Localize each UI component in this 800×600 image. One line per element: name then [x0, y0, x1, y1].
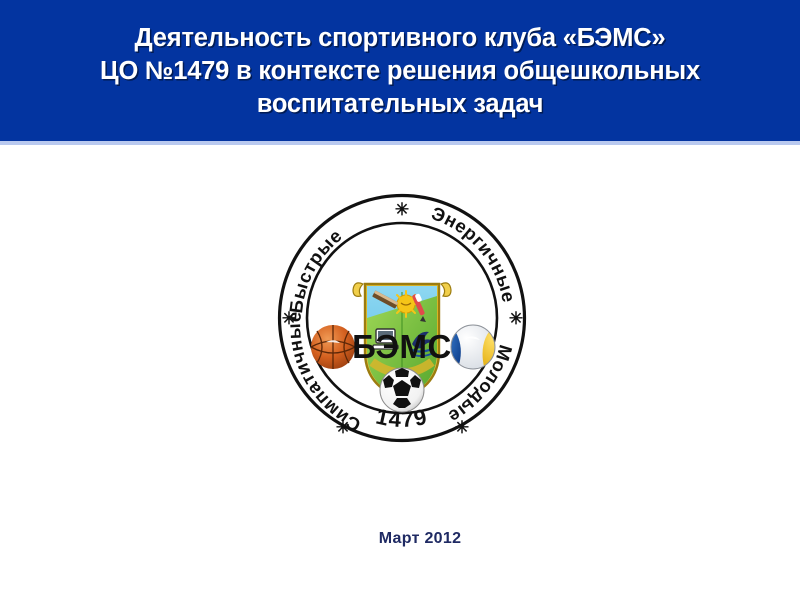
title-band: Деятельность спортивного клуба «БЭМС» ЦО…	[0, 0, 800, 141]
club-emblem: Быстрые Энергичные Молодые Симпатичные ✳…	[268, 192, 536, 444]
star-bottom-right-icon: ✳	[455, 418, 469, 437]
page-title: Деятельность спортивного клуба «БЭМС» ЦО…	[20, 20, 780, 121]
star-top-icon: ✳	[395, 200, 409, 219]
slide-date-text: Март 2012	[379, 530, 462, 548]
slide-date: Март 2012	[0, 530, 800, 548]
basketball-icon	[311, 325, 355, 369]
star-left-icon: ✳	[282, 309, 296, 328]
star-bottom-left-icon: ✳	[336, 418, 350, 437]
title-band-underline	[0, 141, 800, 145]
club-emblem-graphic: Быстрые Энергичные Молодые Симпатичные ✳…	[268, 192, 536, 444]
emblem-center-text: БЭМС	[352, 328, 452, 365]
presentation-slide: Деятельность спортивного клуба «БЭМС» ЦО…	[0, 0, 800, 600]
star-right-icon: ✳	[509, 309, 523, 328]
soccer-ball-icon	[380, 368, 424, 412]
